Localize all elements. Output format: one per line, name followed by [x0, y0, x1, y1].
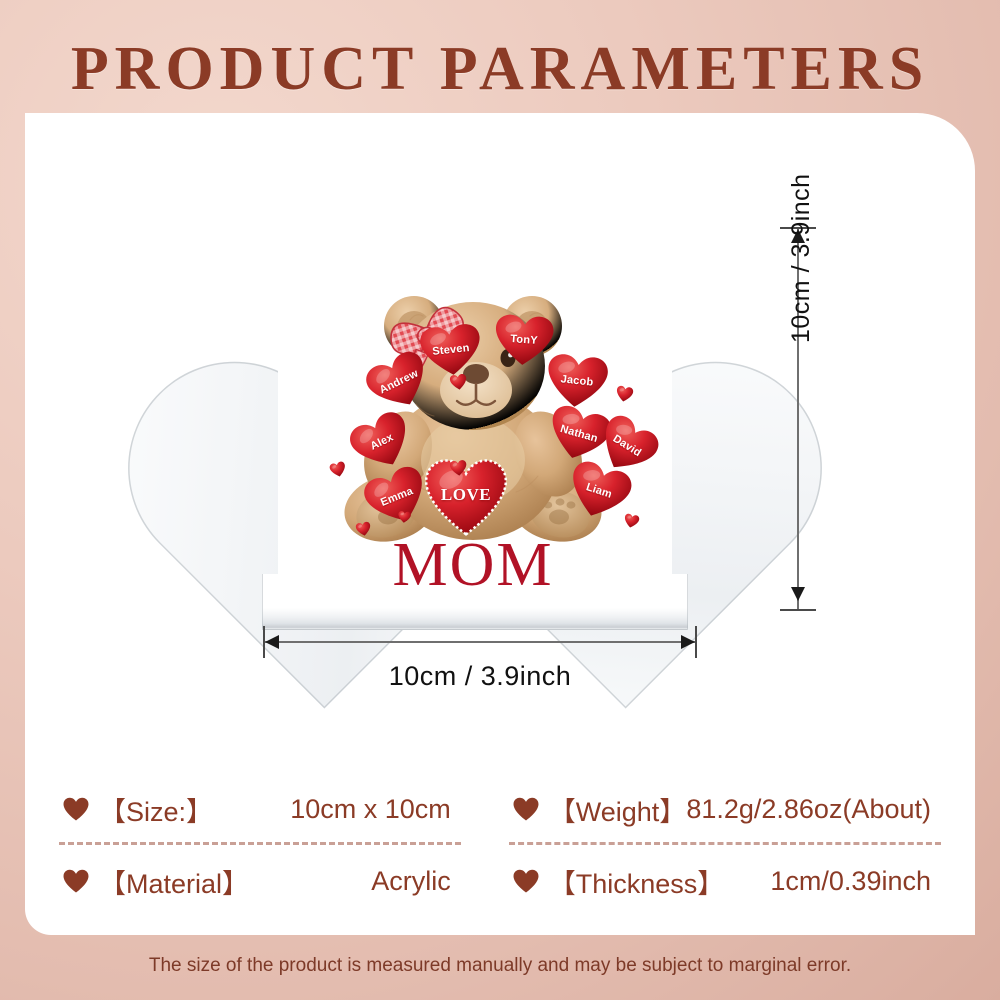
product-card: LOVE MOM StevenTonYAndrewJacobAlexNathan…	[25, 113, 975, 935]
decorative-heart-icon	[623, 513, 641, 530]
bullet-heart-icon	[63, 797, 89, 821]
name-heart: TonY	[492, 312, 555, 368]
decorative-heart-icon	[615, 385, 635, 404]
decorative-heart-icon	[449, 459, 468, 477]
horizontal-dimension-label: 10cm / 3.9inch	[255, 661, 705, 692]
decorative-heart-icon	[397, 509, 411, 522]
spec-value: 1cm/0.39inch	[770, 866, 937, 897]
spec-row: 【Material】Acrylic	[59, 845, 461, 917]
bullet-heart-icon	[513, 797, 539, 821]
vertical-dimension-arrow-down	[791, 587, 805, 601]
decorative-heart-icon	[449, 373, 468, 391]
decorative-heart-icon	[355, 521, 372, 537]
horizontal-dimension-stroke	[263, 641, 697, 643]
spec-value: 81.2g/2.86oz(About)	[686, 794, 937, 825]
page-title: PRODUCT PARAMETERS	[0, 34, 1000, 105]
spec-row: 【Weight】81.2g/2.86oz(About)	[509, 773, 941, 845]
vertical-dimension-tick-bottom	[780, 609, 816, 611]
name-heart: Jacob	[543, 351, 610, 411]
horizontal-dimension-arrow-left	[265, 635, 279, 649]
spec-label: 【Material】	[99, 862, 249, 901]
mom-engraving: MOM	[238, 534, 708, 596]
footer-disclaimer: The size of the product is measured manu…	[0, 955, 1000, 977]
spec-row: 【Thickness】1cm/0.39inch	[509, 845, 941, 917]
bullet-heart-icon	[63, 869, 89, 893]
spec-value: Acrylic	[371, 866, 457, 897]
love-heart-label: LOVE	[441, 485, 491, 505]
spec-label: 【Size:】	[99, 790, 213, 829]
horizontal-dimension-arrow-right	[681, 635, 695, 649]
vertical-dimension-label: 10cm / 3.9inch	[787, 173, 816, 343]
spec-table: 【Size:】10cm x 10cm【Weight】81.2g/2.86oz(A…	[59, 773, 941, 917]
bullet-heart-icon	[513, 869, 539, 893]
spec-label: 【Thickness】	[549, 862, 725, 901]
horizontal-dimension-tick-right	[695, 626, 697, 658]
horizontal-dimension-line	[255, 623, 705, 663]
spec-row: 【Size:】10cm x 10cm	[59, 773, 461, 845]
spec-value: 10cm x 10cm	[290, 794, 457, 825]
name-heart-label: TonY	[510, 333, 538, 347]
spec-label: 【Weight】	[549, 790, 687, 829]
